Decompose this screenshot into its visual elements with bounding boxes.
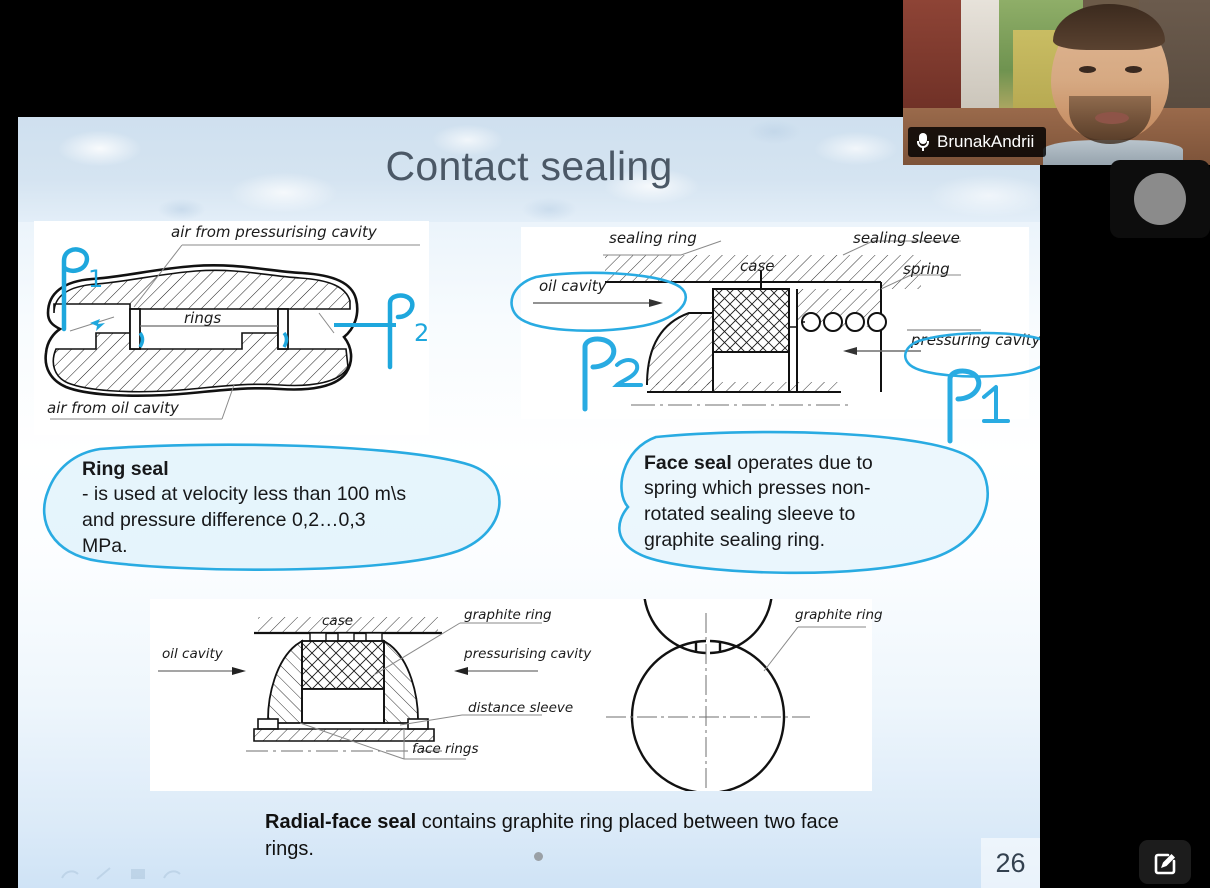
webcam-person-eye-right <box>1125 66 1142 73</box>
label-case: case <box>740 257 774 275</box>
callout-ring-seal-line3: MPa. <box>82 534 470 560</box>
webcam-name-badge: BrunakAndrii <box>908 127 1046 157</box>
callout-face-seal: Face seal operates due to spring which p… <box>606 429 996 575</box>
callout-face-seal-line2: spring which presses non- <box>644 476 952 502</box>
callout-ring-seal-line2: and pressure difference 0,2…0,3 <box>82 508 470 534</box>
pen-square-icon <box>1151 848 1179 876</box>
label-rings: rings <box>184 309 221 327</box>
label-graphite-ring-plan: graphite ring <box>795 607 883 623</box>
webcam-curtain-white <box>961 0 999 118</box>
label-face-rings: face rings <box>412 741 479 757</box>
label-sealing-ring: sealing ring <box>609 229 697 247</box>
label-air-from-oil-cavity: air from oil cavity <box>47 399 179 417</box>
ring-seal-diagram: air from pressurising cavity rings air f… <box>34 221 429 435</box>
label-case-bottom: case <box>322 613 353 629</box>
presentation-slide[interactable]: Contact sealing <box>18 117 1040 888</box>
webcam-tile-secondary[interactable] <box>1110 160 1210 238</box>
participant-name: BrunakAndrii <box>937 132 1034 152</box>
callout-face-seal-line3: rotated sealing sleeve to <box>644 502 952 528</box>
callout-face-seal-line1: Face seal operates due to <box>644 451 952 477</box>
label-graphite-ring-section: graphite ring <box>464 607 552 623</box>
caption-bold: Radial-face seal <box>265 811 416 833</box>
radial-face-seal-diagram: oil cavity case graphite ring pressurisi… <box>150 599 872 791</box>
meeting-screen-share: Contact sealing <box>0 0 1210 888</box>
slide-title: Contact sealing <box>18 143 1040 190</box>
slide-page-number: 26 <box>981 838 1040 888</box>
callout-face-seal-title: Face seal <box>644 452 732 474</box>
callout-ring-seal-title: Ring seal <box>82 457 470 483</box>
laser-icon[interactable] <box>162 866 182 882</box>
callout-face-seal-line4: graphite sealing ring. <box>644 528 952 554</box>
pointer-icon[interactable] <box>60 866 80 882</box>
label-spring: spring <box>903 260 950 278</box>
label-oil-cavity-bottom: oil cavity <box>162 646 223 662</box>
annotate-button[interactable] <box>1139 840 1191 884</box>
label-sealing-sleeve: sealing sleeve <box>853 229 960 247</box>
callout-ring-seal: Ring seal - is used at velocity less tha… <box>40 443 510 573</box>
slide-caption: Radial-face seal contains graphite ring … <box>265 809 885 863</box>
label-pressurising-cavity: pressurising cavity <box>464 646 591 662</box>
presenter-cursor-dot <box>534 852 543 861</box>
label-oil-cavity: oil cavity <box>539 277 607 295</box>
avatar <box>1134 173 1186 225</box>
webcam-person-mouth <box>1095 112 1129 124</box>
callout-face-seal-line1-rest: operates due to <box>732 452 873 474</box>
pen-icon[interactable] <box>94 866 114 882</box>
callout-ring-seal-line1: - is used at velocity less than 100 m\s <box>82 482 470 508</box>
presenter-toolbar[interactable] <box>60 866 182 882</box>
webcam-person-eye-left <box>1079 66 1096 73</box>
webcam-curtain-red <box>903 0 961 120</box>
webcam-tile-self[interactable]: BrunakAndrii <box>903 0 1210 165</box>
face-seal-drawing <box>521 227 1029 419</box>
label-air-from-pressurising-cavity: air from pressurising cavity <box>171 223 377 241</box>
label-distance-sleeve: distance sleeve <box>468 700 573 716</box>
face-seal-diagram: sealing ring case sealing sleeve spring … <box>521 227 1029 419</box>
microphone-icon <box>917 133 929 151</box>
slide-navigator-icon[interactable] <box>128 866 148 882</box>
radial-face-seal-drawing <box>150 599 872 791</box>
label-pressuring-cavity: pressuring cavity <box>911 331 1040 349</box>
